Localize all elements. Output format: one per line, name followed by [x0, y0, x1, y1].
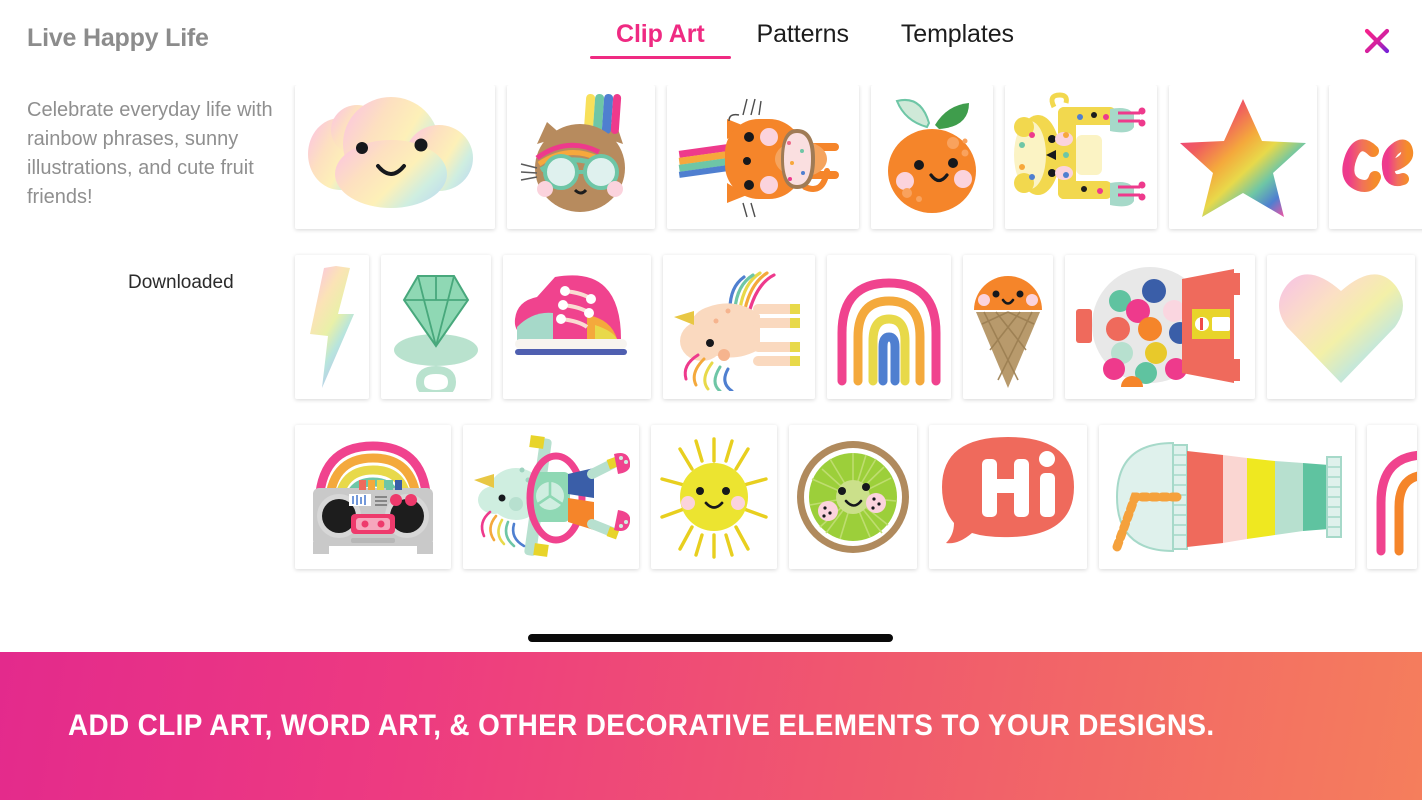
- unicorn-hula-hoop-icon: [472, 432, 630, 562]
- hi-speech-bubble-icon: [938, 433, 1078, 561]
- tab-templates[interactable]: Templates: [875, 20, 1040, 59]
- close-icon[interactable]: [1358, 22, 1396, 60]
- clip-art-row-1: [295, 85, 1422, 229]
- tile-rainbow-star[interactable]: [1169, 85, 1317, 229]
- rainbow-arch-partial-icon: [1367, 433, 1417, 561]
- tile-leopard-giraffe[interactable]: [1005, 85, 1157, 229]
- horizontal-scrollbar-track[interactable]: [0, 630, 1422, 646]
- tab-templates-label: Templates: [901, 20, 1014, 48]
- clip-art-row-3: [295, 425, 1422, 569]
- leopard-giraffe-icon: [1014, 91, 1148, 223]
- smiling-orange-fruit-icon: [877, 93, 987, 221]
- rainbow-smoothie-cup-icon: [1107, 435, 1347, 559]
- smiling-sun-icon: [656, 433, 772, 561]
- tab-clip-art[interactable]: Clip Art: [590, 20, 731, 59]
- tile-rainbow-lightning-bolt[interactable]: [295, 255, 369, 399]
- promo-banner-text: ADD CLIP ART, WORD ART, & OTHER DECORATI…: [68, 709, 1215, 743]
- rainbow-gradient-heart-icon: [1277, 265, 1405, 389]
- tab-bar: Clip Art Patterns Templates: [590, 20, 1040, 59]
- clip-art-browser: Live Happy Life Clip Art Patterns Templa…: [0, 0, 1422, 800]
- header-bar: Live Happy Life Clip Art Patterns Templa…: [0, 0, 1422, 80]
- ice-cream-cone-face-icon: [970, 262, 1046, 392]
- tile-rainbow-cloud-face[interactable]: [295, 85, 495, 229]
- tile-rainbow-heart[interactable]: [1267, 255, 1415, 399]
- tile-kiwi-slice[interactable]: [789, 425, 917, 569]
- tile-mint-gem-ring[interactable]: [381, 255, 491, 399]
- rainbow-arch-icon: [834, 263, 944, 391]
- flying-unicorn-icon: [672, 263, 806, 391]
- tile-unicorn-cat-glasses[interactable]: [507, 85, 655, 229]
- tab-patterns-label: Patterns: [757, 20, 849, 48]
- tile-ice-cream-cone[interactable]: [963, 255, 1053, 399]
- mint-gem-ring-icon: [388, 262, 484, 392]
- clip-art-row-2: [295, 255, 1422, 399]
- tile-orange-cat-donut[interactable]: [667, 85, 859, 229]
- kiwi-slice-face-icon: [796, 433, 910, 561]
- orange-cat-unicorn-donut-icon: [677, 91, 849, 223]
- tile-unicorn-hula-hoop[interactable]: [463, 425, 639, 569]
- celebrate-lettering-icon: [1329, 93, 1422, 221]
- tile-hi-speech-bubble[interactable]: [929, 425, 1087, 569]
- tab-patterns[interactable]: Patterns: [731, 20, 875, 59]
- tile-celebrate-lettering[interactable]: [1329, 85, 1422, 229]
- tile-gumball-machine[interactable]: [1065, 255, 1255, 399]
- unicorn-cat-glasses-icon: [517, 92, 645, 222]
- rainbow-lightning-bolt-icon: [302, 262, 362, 392]
- page-title: Live Happy Life: [27, 24, 209, 53]
- rainbow-cloud-face-icon: [305, 92, 485, 222]
- tile-boombox-rainbow[interactable]: [295, 425, 451, 569]
- tile-rainbow-arch-partial[interactable]: [1367, 425, 1417, 569]
- gumball-machine-icon: [1074, 267, 1246, 387]
- tile-rainbow-smoothie-cup[interactable]: [1099, 425, 1355, 569]
- promo-banner: ADD CLIP ART, WORD ART, & OTHER DECORATI…: [0, 652, 1422, 800]
- tile-rainbow-arch[interactable]: [827, 255, 951, 399]
- tile-smiling-sun[interactable]: [651, 425, 777, 569]
- tile-smiling-orange-fruit[interactable]: [871, 85, 993, 229]
- boombox-rainbow-icon: [303, 432, 443, 562]
- tile-flying-unicorn[interactable]: [663, 255, 815, 399]
- tab-clip-art-label: Clip Art: [616, 20, 705, 48]
- clip-art-grid: [0, 85, 1422, 585]
- tile-pink-rainbow-sneaker[interactable]: [503, 255, 651, 399]
- pink-rainbow-sneaker-icon: [511, 269, 643, 385]
- rainbow-gradient-star-icon: [1178, 93, 1308, 221]
- horizontal-scrollbar-thumb[interactable]: [528, 634, 893, 642]
